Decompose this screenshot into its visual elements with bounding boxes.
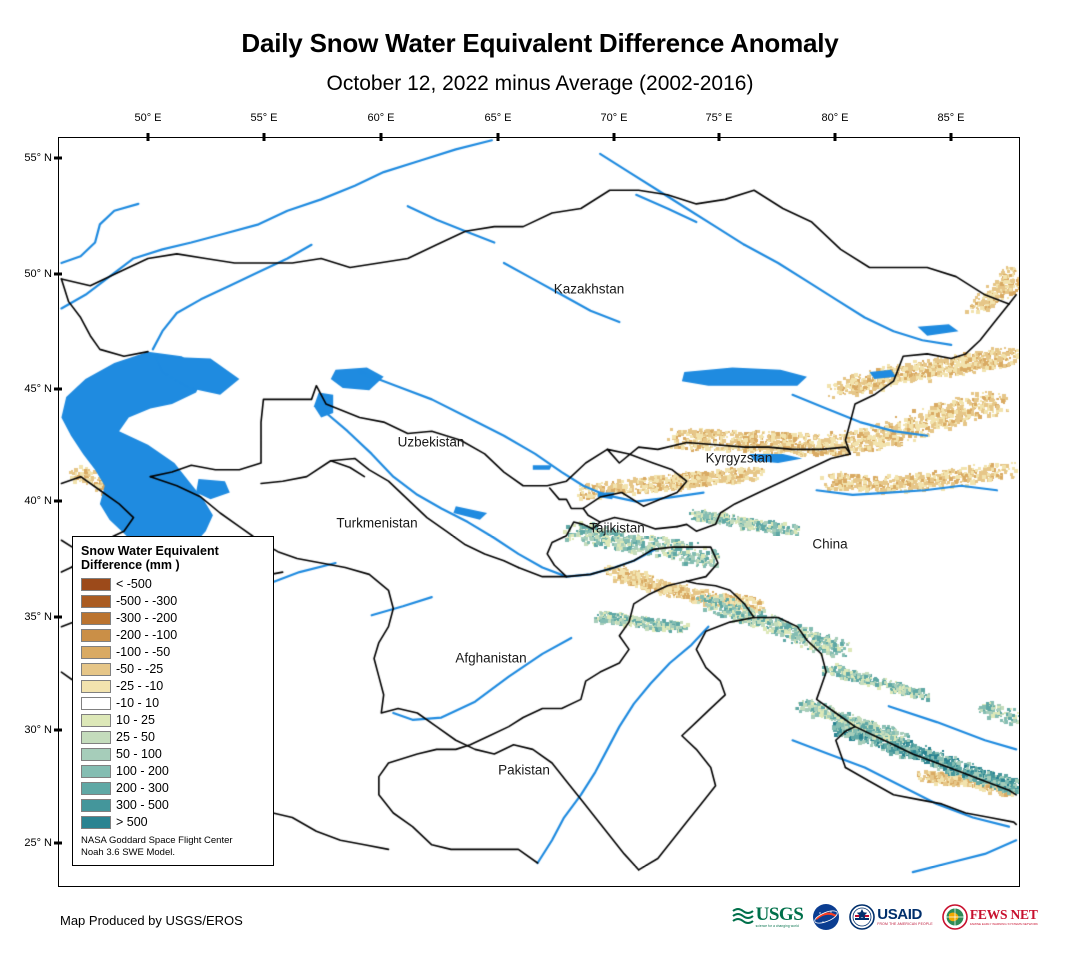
legend-label: -500 - -300	[116, 594, 177, 608]
legend-swatch	[81, 595, 111, 608]
nasa-logo	[812, 902, 840, 932]
latitude-tick-mark	[54, 500, 62, 503]
page-subtitle: October 12, 2022 minus Average (2002-201…	[0, 72, 1080, 96]
longitude-tick-mark	[834, 133, 837, 141]
latitude-tick-mark	[54, 157, 62, 160]
usaid-logo-text: USAID	[877, 907, 922, 922]
legend-label: -25 - -10	[116, 679, 163, 693]
usgs-wave-icon	[732, 906, 756, 928]
country-label-kazakhstan: Kazakhstan	[554, 282, 625, 297]
usaid-logo-subtext: FROM THE AMERICAN PEOPLE	[877, 923, 933, 926]
latitude-tick-mark	[54, 842, 62, 845]
longitude-tick-mark	[263, 133, 266, 141]
latitude-tick-label: 40° N	[20, 495, 52, 507]
longitude-tick-label: 75° E	[705, 112, 732, 124]
country-label-pakistan: Pakistan	[498, 763, 550, 778]
legend-label: 25 - 50	[116, 730, 155, 744]
legend-swatch	[81, 646, 111, 659]
legend-swatch	[81, 612, 111, 625]
country-label-turkmenistan: Turkmenistan	[336, 516, 417, 531]
legend-swatch	[81, 578, 111, 591]
longitude-tick-label: 50° E	[134, 112, 161, 124]
legend-row: -25 - -10	[81, 678, 265, 695]
country-label-tajikistan: Tajikistan	[589, 521, 645, 536]
legend-swatch	[81, 731, 111, 744]
legend-label: -50 - -25	[116, 662, 163, 676]
legend-row: 25 - 50	[81, 729, 265, 746]
legend-swatch	[81, 765, 111, 778]
map-credit: Map Produced by USGS/EROS	[60, 913, 243, 928]
legend-label: 300 - 500	[116, 798, 169, 812]
latitude-tick-label: 45° N	[20, 383, 52, 395]
longitude-tick-mark	[147, 133, 150, 141]
fewsnet-logo: FEWS NET FAMINE EARLY WARNING SYSTEMS NE…	[942, 902, 1038, 932]
country-label-uzbekistan: Uzbekistan	[398, 435, 465, 450]
logo-strip: USGS science for a changing world USAID …	[732, 902, 1038, 932]
legend-row: 200 - 300	[81, 780, 265, 797]
legend-label: -10 - 10	[116, 696, 159, 710]
usgs-logo: USGS science for a changing world	[732, 902, 804, 932]
fewsnet-globe-icon	[942, 904, 968, 930]
legend-row: 50 - 100	[81, 746, 265, 763]
legend-source-note: NASA Goddard Space Flight Center Noah 3.…	[81, 835, 265, 859]
latitude-tick-label: 55° N	[20, 152, 52, 164]
legend-row: -300 - -200	[81, 610, 265, 627]
fewsnet-logo-text: FEWS NET	[970, 908, 1038, 922]
legend-swatch	[81, 748, 111, 761]
nasa-meatball-icon	[812, 903, 840, 931]
legend-items: < -500-500 - -300-300 - -200-200 - -100-…	[81, 576, 265, 831]
legend-swatch	[81, 697, 111, 710]
legend-row: -50 - -25	[81, 661, 265, 678]
legend-swatch	[81, 680, 111, 693]
legend-row: 10 - 25	[81, 712, 265, 729]
legend-row: -10 - 10	[81, 695, 265, 712]
longitude-tick-label: 85° E	[937, 112, 964, 124]
country-label-kyrgyzstan: Kyrgyzstan	[706, 451, 773, 466]
usaid-logo: USAID FROM THE AMERICAN PEOPLE	[849, 902, 933, 932]
latitude-tick-label: 50° N	[20, 268, 52, 280]
country-label-china: China	[812, 537, 847, 552]
longitude-tick-mark	[497, 133, 500, 141]
legend-label: -200 - -100	[116, 628, 177, 642]
map-legend: Snow Water Equivalent Difference (mm ) <…	[72, 536, 274, 866]
legend-label: > 500	[116, 815, 148, 829]
legend-row: 300 - 500	[81, 797, 265, 814]
longitude-tick-label: 60° E	[367, 112, 394, 124]
legend-swatch	[81, 799, 111, 812]
longitude-tick-mark	[380, 133, 383, 141]
page-title: Daily Snow Water Equivalent Difference A…	[0, 28, 1080, 59]
longitude-tick-label: 65° E	[484, 112, 511, 124]
longitude-tick-mark	[613, 133, 616, 141]
longitude-tick-mark	[950, 133, 953, 141]
legend-row: -100 - -50	[81, 644, 265, 661]
usaid-seal-icon	[849, 904, 875, 930]
latitude-tick-label: 35° N	[20, 611, 52, 623]
usgs-logo-subtext: science for a changing world	[756, 925, 799, 928]
legend-swatch	[81, 629, 111, 642]
legend-row: 100 - 200	[81, 763, 265, 780]
legend-label: -100 - -50	[116, 645, 170, 659]
longitude-tick-mark	[718, 133, 721, 141]
legend-swatch	[81, 714, 111, 727]
legend-label: < -500	[116, 577, 152, 591]
legend-swatch	[81, 782, 111, 795]
latitude-tick-mark	[54, 388, 62, 391]
longitude-tick-label: 80° E	[821, 112, 848, 124]
legend-label: 200 - 300	[116, 781, 169, 795]
latitude-tick-label: 25° N	[20, 837, 52, 849]
legend-label: 10 - 25	[116, 713, 155, 727]
latitude-tick-mark	[54, 616, 62, 619]
legend-row: < -500	[81, 576, 265, 593]
latitude-tick-mark	[54, 729, 62, 732]
legend-row: -500 - -300	[81, 593, 265, 610]
country-label-afghanistan: Afghanistan	[455, 651, 526, 666]
usgs-logo-text: USGS	[756, 905, 804, 924]
legend-label: -300 - -200	[116, 611, 177, 625]
latitude-tick-label: 30° N	[20, 724, 52, 736]
legend-label: 100 - 200	[116, 764, 169, 778]
longitude-tick-label: 55° E	[250, 112, 277, 124]
legend-title: Snow Water Equivalent Difference (mm )	[81, 544, 265, 573]
fewsnet-logo-subtext: FAMINE EARLY WARNING SYSTEMS NETWORK	[970, 923, 1038, 926]
longitude-tick-label: 70° E	[600, 112, 627, 124]
latitude-tick-mark	[54, 273, 62, 276]
legend-swatch	[81, 816, 111, 829]
legend-row: -200 - -100	[81, 627, 265, 644]
legend-swatch	[81, 663, 111, 676]
legend-label: 50 - 100	[116, 747, 162, 761]
legend-row: > 500	[81, 814, 265, 831]
